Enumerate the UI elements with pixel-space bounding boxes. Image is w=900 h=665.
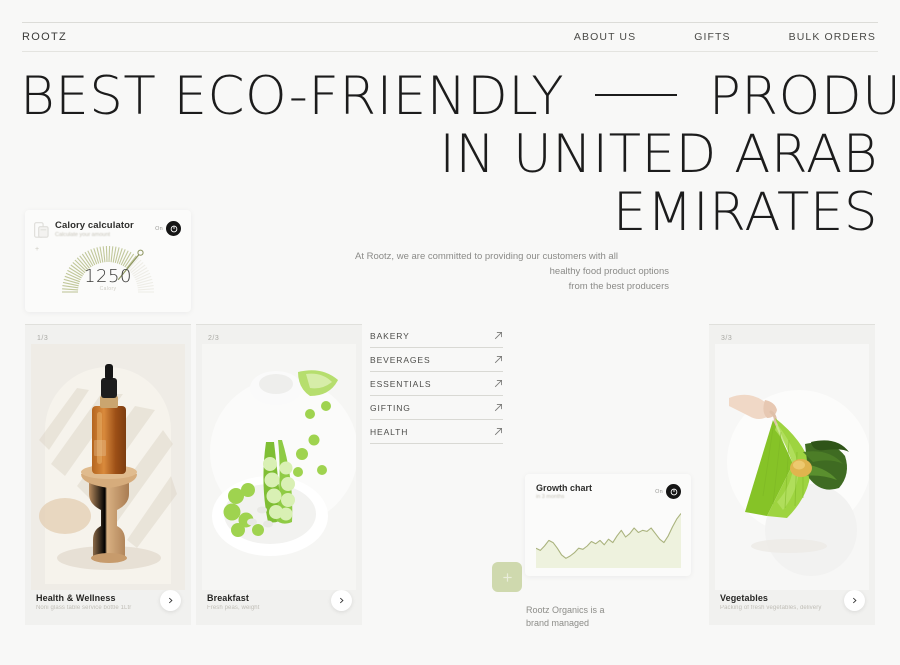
calory-widget-header: Calory calculator Calculate your amount … (25, 210, 191, 238)
plus-icon (502, 572, 513, 583)
arrow-up-right-icon (494, 403, 503, 412)
growth-toggle-label: On (655, 489, 663, 495)
card-footer: Breakfast Fresh peas, weight (196, 590, 362, 625)
card-text: Vegetables Packing of fresh vegetables, … (720, 593, 821, 611)
add-item-button[interactable] (492, 562, 522, 592)
calory-toggle-group[interactable]: On (155, 221, 181, 236)
product-card-health-wellness[interactable]: 1/3 (25, 324, 191, 625)
calory-unit-label: Calory (25, 286, 191, 292)
next-product-button[interactable] (160, 590, 181, 611)
nav-item-bulk-orders[interactable]: BULK ORDERS (789, 31, 876, 43)
category-label: BAKERY (370, 331, 410, 341)
category-label: GIFTING (370, 403, 411, 413)
growth-chart-widget: Growth chart in 3 months On (525, 474, 691, 576)
card-footer: Health & Wellness Noni glass table servi… (25, 590, 191, 625)
product-title: Breakfast (207, 593, 260, 603)
headline-line-2: PRODUCTS (709, 66, 900, 127)
category-item-health[interactable]: HEALTH (370, 420, 503, 444)
category-label: BEVERAGES (370, 355, 431, 365)
growth-caption-line-1: Rootz Organics is a (526, 605, 605, 615)
product-subtitle: Noni glass table service bottle 1Ltr (36, 605, 131, 611)
intro-line-1: At Rootz, we are committed to providing … (355, 249, 669, 264)
growth-toggle-group[interactable]: On (655, 484, 681, 499)
chevron-right-icon (851, 597, 858, 604)
growth-caption-line-2: brand managed (526, 618, 589, 628)
calory-toggle-label: On (155, 226, 163, 232)
category-item-gifting[interactable]: GIFTING (370, 396, 503, 420)
calory-calculator-widget: Calory calculator Calculate your amount … (25, 210, 191, 312)
card-counter: 2/3 (196, 325, 362, 342)
card-text: Breakfast Fresh peas, weight (207, 593, 260, 611)
growth-caption: Rootz Organics is a brand managed (526, 604, 706, 630)
nav-item-gifts[interactable]: GIFTS (694, 31, 730, 43)
arrow-up-right-icon (494, 379, 503, 388)
main-nav: ABOUT US GIFTS BULK ORDERS (574, 31, 878, 43)
category-label: HEALTH (370, 427, 408, 437)
next-product-button[interactable] (844, 590, 865, 611)
arrow-up-right-icon (494, 355, 503, 364)
category-item-bakery[interactable]: BAKERY (370, 324, 503, 348)
growth-chart-svg (536, 506, 681, 568)
power-toggle-button[interactable] (666, 484, 681, 499)
product-card-breakfast[interactable]: 2/3 (196, 324, 362, 625)
next-product-button[interactable] (331, 590, 352, 611)
intro-line-2: healthy food product options (550, 266, 669, 277)
category-label: ESSENTIALS (370, 379, 431, 389)
product-image-dropper-bottle (31, 344, 185, 590)
headline-dash (595, 94, 677, 96)
card-footer: Vegetables Packing of fresh vegetables, … (709, 590, 875, 625)
calory-widget-title: Calory calculator (55, 220, 149, 231)
card-text: Health & Wellness Noni glass table servi… (36, 593, 131, 611)
vegetable-bag-illustration (715, 344, 869, 590)
arrow-up-right-icon (494, 331, 503, 340)
brand-logo[interactable]: ROOTZ (22, 31, 67, 43)
product-subtitle: Fresh peas, weight (207, 605, 260, 611)
power-icon (170, 225, 178, 233)
dropper-bottle-illustration (31, 344, 185, 590)
product-subtitle: Packing of fresh vegetables, delivery (720, 605, 821, 611)
card-counter: 3/3 (709, 325, 875, 342)
arrow-up-right-icon (494, 427, 503, 436)
green-peas-illustration (202, 344, 356, 590)
calory-value: 1250 (25, 266, 191, 287)
growth-widget-subtitle: in 3 months (536, 494, 649, 500)
product-image-vegetable-bag (715, 344, 869, 590)
category-list: BAKERY BEVERAGES ESSENTIALS GIFTING HEAL… (370, 324, 503, 444)
category-item-essentials[interactable]: ESSENTIALS (370, 372, 503, 396)
gauge-plus-marker: + (35, 246, 39, 253)
product-card-vegetables[interactable]: 3/3 Vegetables (709, 324, 875, 625)
chevron-right-icon (167, 597, 174, 604)
category-item-beverages[interactable]: BEVERAGES (370, 348, 503, 372)
product-title: Vegetables (720, 593, 821, 603)
product-image-green-peas (202, 344, 356, 590)
power-icon (670, 488, 678, 496)
growth-widget-titles: Growth chart in 3 months (536, 483, 649, 500)
chevron-right-icon (338, 597, 345, 604)
nav-item-about-us[interactable]: ABOUT US (574, 31, 636, 43)
headline-line-1: BEST ECO-FRIENDLY (20, 66, 564, 127)
card-counter: 1/3 (25, 325, 191, 342)
growth-widget-title: Growth chart (536, 483, 649, 493)
intro-line-3: from the best producers (569, 281, 669, 292)
headline-line-3: IN UNITED ARAB (20, 126, 878, 184)
product-title: Health & Wellness (36, 593, 131, 603)
calory-gauge: 1250 Calory (25, 236, 191, 298)
growth-widget-header: Growth chart in 3 months On (525, 474, 691, 500)
power-toggle-button[interactable] (166, 221, 181, 236)
site-header: ROOTZ ABOUT US GIFTS BULK ORDERS (22, 22, 878, 52)
intro-paragraph: At Rootz, we are committed to providing … (355, 249, 669, 294)
growth-line-chart (536, 506, 681, 568)
